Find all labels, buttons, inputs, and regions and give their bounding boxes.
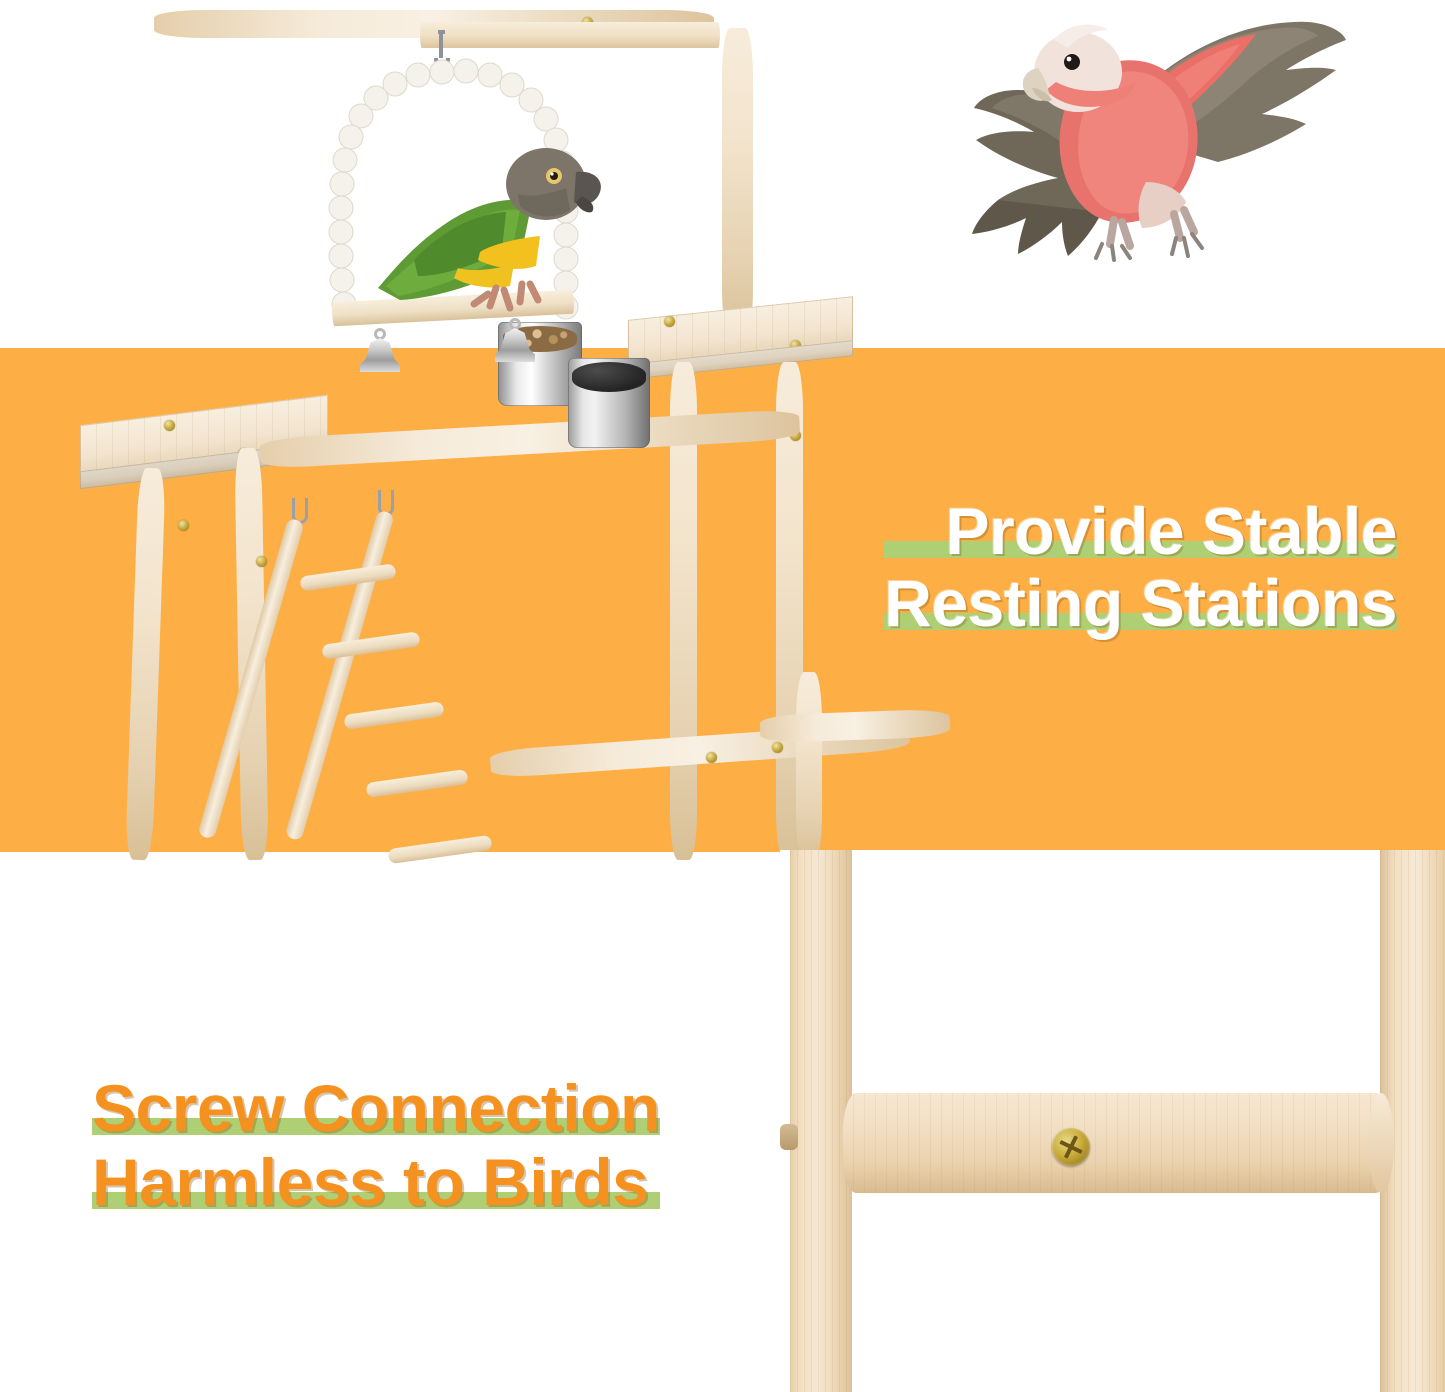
dowel-perch xyxy=(842,1093,1390,1193)
headline-stable-resting-stations: Provide Stable Resting Stations xyxy=(884,498,1397,636)
playstand-leg-left-front xyxy=(125,468,166,861)
ladder-rung xyxy=(365,769,468,798)
screw-stub-icon xyxy=(780,1124,798,1150)
headline-line: Screw Connection xyxy=(92,1075,660,1141)
screw-icon xyxy=(256,556,267,567)
headline-screw-connection: Screw Connection Harmless to Birds xyxy=(92,1075,660,1215)
swing-support-bar xyxy=(420,22,720,48)
headline-text: Harmless to Birds xyxy=(92,1149,648,1215)
screw-icon xyxy=(772,742,783,753)
screw-icon xyxy=(664,316,675,327)
headline-line: Provide Stable xyxy=(884,498,1397,564)
headline-text: Provide Stable xyxy=(946,498,1398,564)
ladder-rung xyxy=(321,631,420,659)
senegal-parrot-on-swing-photo xyxy=(320,0,620,430)
playstand-t-post-right xyxy=(796,672,822,862)
headline-line: Resting Stations xyxy=(884,570,1397,636)
galah-cockatoo-photo xyxy=(950,6,1350,286)
senegal-parrot xyxy=(370,110,620,330)
ladder-rung xyxy=(299,563,396,591)
ladder-rung xyxy=(387,835,492,864)
bell-left xyxy=(360,328,400,372)
screw-icon xyxy=(164,420,175,431)
headline-line: Harmless to Birds xyxy=(92,1149,660,1215)
perch-end-cap xyxy=(1368,1093,1394,1193)
screw-icon xyxy=(706,752,717,763)
ladder-rung xyxy=(343,701,444,730)
headline-text: Screw Connection xyxy=(92,1075,660,1141)
headline-text: Resting Stations xyxy=(884,570,1397,636)
screw-icon xyxy=(178,520,189,531)
screw-connection-detail-photo xyxy=(780,850,1445,1392)
playstand-vertical-post xyxy=(722,28,753,338)
infographic-canvas: Provide Stable Resting Stations Screw Co… xyxy=(0,0,1445,1392)
galah-cockatoo xyxy=(950,6,1350,286)
brass-screw-icon xyxy=(1052,1128,1090,1166)
